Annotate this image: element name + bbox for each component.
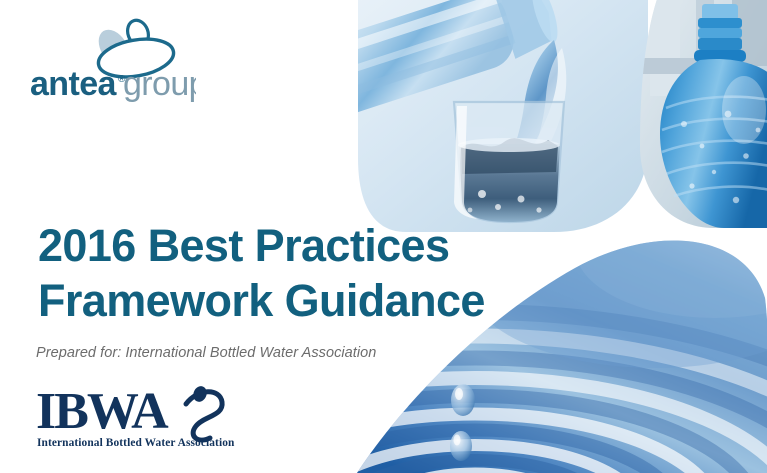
- photo-water-pouring-glass: [358, 0, 648, 232]
- title-line-1: 2016 Best Practices: [38, 218, 508, 273]
- antea-group-logo: antea ® group: [26, 6, 196, 106]
- water-droplet-icon: [450, 431, 472, 461]
- antea-wordmark-bold: antea: [30, 65, 118, 103]
- subtitle-prepared-for: Prepared for: International Bottled Wate…: [36, 345, 376, 361]
- glass-tumbler-icon: [454, 102, 564, 222]
- ibwa-logo: IBWA International Bottled Water Associa…: [36, 382, 236, 454]
- antea-wordmark-light: group: [123, 65, 196, 103]
- title-slide: antea ® group: [0, 0, 767, 473]
- ibwa-acronym: IBWA: [36, 383, 169, 440]
- ibwa-droplet-icon: [191, 384, 209, 404]
- ibwa-tagline: International Bottled Water Association: [37, 437, 235, 449]
- photo-water-cooler-bottle: [640, 0, 767, 228]
- page-title: 2016 Best Practices Framework Guidance: [38, 218, 508, 328]
- water-droplet-icon: [451, 384, 475, 416]
- title-line-2: Framework Guidance: [38, 273, 508, 328]
